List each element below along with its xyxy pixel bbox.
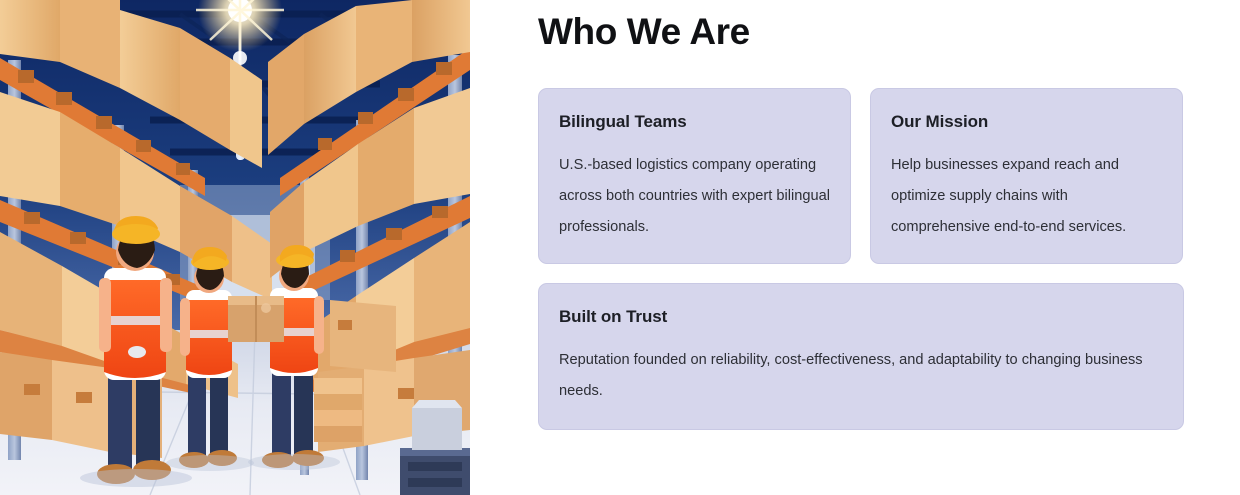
- card-bilingual-teams: Bilingual Teams U.S.-based logistics com…: [538, 88, 851, 264]
- card-title-our-mission: Our Mission: [891, 111, 1162, 133]
- card-title-bilingual-teams: Bilingual Teams: [559, 111, 830, 133]
- warehouse-illustration: [0, 0, 470, 495]
- handed-cardboard-box: [228, 296, 284, 342]
- card-body-our-mission: Help businesses expand reach and optimiz…: [891, 150, 1162, 243]
- card-body-bilingual-teams: U.S.-based logistics company operating a…: [559, 150, 830, 243]
- page-title: Who We Are: [538, 4, 750, 60]
- card-body-built-on-trust: Reputation founded on reliability, cost-…: [559, 345, 1163, 407]
- who-we-are-section: Who We Are Bilingual Teams U.S.-based lo…: [0, 0, 1240, 495]
- card-built-on-trust: Built on Trust Reputation founded on rel…: [538, 283, 1184, 430]
- warehouse-hero-image: [0, 0, 470, 495]
- cards-top-row: Bilingual Teams U.S.-based logistics com…: [538, 88, 1184, 264]
- content-panel: Who We Are Bilingual Teams U.S.-based lo…: [470, 0, 1240, 495]
- card-title-built-on-trust: Built on Trust: [559, 306, 1163, 328]
- cards-container: Bilingual Teams U.S.-based logistics com…: [538, 88, 1184, 430]
- card-our-mission: Our Mission Help businesses expand reach…: [870, 88, 1183, 264]
